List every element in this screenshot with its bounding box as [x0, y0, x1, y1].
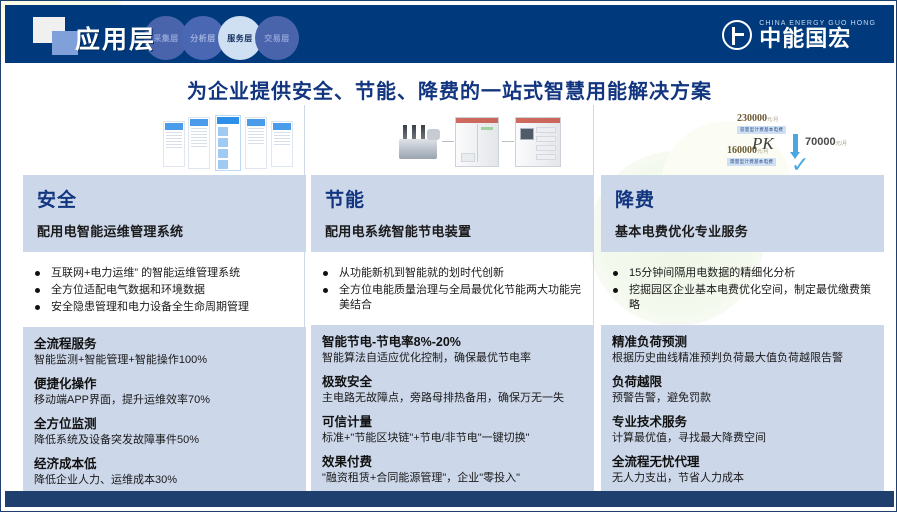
pk-before-number: 230000 [737, 113, 767, 124]
phone-mockup [188, 117, 210, 169]
detail-panel: 精准负荷预测 根据历史曲线精准预判负荷最大值负荷越限告警 负荷越限 预警告警，避… [601, 325, 884, 495]
column-security: 安全 配用电智能运维管理系统 互联网+电力运维” 的智能运维管理系统 全方位适配… [23, 101, 306, 497]
detail-item: 极致安全 主电路无故障点，旁路母排热备用，确保万无一失 [322, 374, 583, 405]
detail-item: 专业技术服务 计算最优值，寻找最大降费空间 [612, 414, 873, 445]
list-item: 互联网+电力运维” 的智能运维管理系统 [29, 266, 302, 281]
list-item: 全方位电能质量治理与全局最优化节能两大功能完美结合 [317, 283, 590, 313]
detail-title: 专业技术服务 [612, 414, 873, 430]
detail-desc: 根据历史曲线精准预判负荷最大值负荷越限告警 [612, 351, 873, 365]
layer-circle-label: 分析层 [190, 33, 216, 44]
detail-item: 全流程无忧代理 无人力支出，节省人力成本 [612, 454, 873, 485]
brand-chinese-name: 中能国宏 [759, 28, 876, 50]
bullet-list: 15分钟间隔用电数据的精细化分析 挖掘园区企业基本电费优化空间，制定最优缴费策略 [601, 252, 884, 325]
pk-after-unit: 元/月 [757, 150, 768, 155]
pk-before-value: 230000元/月 [737, 113, 778, 124]
bullet-list: 互联网+电力运维” 的智能运维管理系统 全方位适配电气数据和环境数据 安全隐患管… [23, 252, 306, 327]
column-header-card: 节能 配用电系统智能节电装置 [311, 175, 594, 252]
column-heading: 安全 [37, 185, 292, 212]
detail-desc: 智能算法自适应优化控制，确保最优节电率 [322, 351, 583, 365]
app-layer-title: 应用层 [75, 20, 156, 56]
column-heading: 节能 [325, 185, 580, 212]
layer-circles: 采集层 分析层 服务层 交易层 [144, 16, 304, 60]
column-heading: 降费 [615, 185, 870, 212]
down-arrow-icon [793, 134, 798, 152]
pk-after-tag: 需量型计费基本电费 [727, 158, 776, 166]
column-subheading: 基本电费优化专业服务 [615, 221, 870, 240]
slide-canvas: 采集层 分析层 服务层 交易层 应用层 CHINA ENERGY GUO HON… [0, 0, 897, 512]
layer-circle-label: 交易层 [264, 33, 290, 44]
detail-desc: "融资租赁+合同能源管理"，企业"零投入" [322, 471, 583, 485]
detail-title: 可信计量 [322, 414, 583, 430]
detail-item: 智能节电-节电率8%-20% 智能算法自适应优化控制，确保最优节电率 [322, 334, 583, 365]
mobile-app-screens-icon [23, 113, 306, 175]
phone-mockup [271, 121, 293, 167]
detail-item: 经济成本低 降低企业人力、运维成本30% [34, 456, 295, 487]
detail-item: 全方位监测 降低系统及设备突发故障事件50% [34, 416, 295, 447]
bullet-list: 从功能新机到智能就的划时代创新 全方位电能质量治理与全局最优化节能两大功能完美结… [311, 252, 594, 325]
detail-title: 效果付费 [322, 454, 583, 470]
detail-title: 全流程无忧代理 [612, 454, 873, 470]
control-cabinet-icon [455, 117, 499, 167]
layer-circle-label: 采集层 [153, 33, 179, 44]
detail-title: 智能节电-节电率8%-20% [322, 334, 583, 350]
pk-before-tag: 容量型计费基本电费 [737, 126, 786, 134]
list-item: 15分钟间隔用电数据的精细化分析 [607, 266, 880, 281]
list-item: 安全隐患管理和电力设备全生命周期管理 [29, 300, 302, 315]
pk-cost-comparison-icon: 230000元/月 容量型计费基本电费 PK 160000元/月 需量型计费基本… [601, 113, 884, 175]
phone-mockup-active [215, 115, 241, 171]
detail-title: 负荷越限 [612, 374, 873, 390]
pk-savings-value: 70000元/月 [805, 136, 847, 148]
detail-desc: 主电路无故障点，旁路母排热备用，确保万无一失 [322, 391, 583, 405]
detail-title: 全方位监测 [34, 416, 295, 432]
detail-desc: 降低系统及设备突发故障事件50% [34, 433, 295, 447]
detail-panel: 全流程服务 智能监测+智能管理+智能操作100% 便捷化操作 移动端APP界面，… [23, 327, 306, 497]
detail-title: 极致安全 [322, 374, 583, 390]
detail-desc: 移动端APP界面，提升运维效率70% [34, 393, 295, 407]
detail-item: 效果付费 "融资租赁+合同能源管理"，企业"零投入" [322, 454, 583, 485]
brand-logo: CHINA ENERGY GUO HONG 中能国宏 [722, 17, 876, 53]
detail-desc: 降低企业人力、运维成本30% [34, 473, 295, 487]
detail-desc: 标准+"节能区块链"+节电/非节电"一键切换" [322, 431, 583, 445]
layer-circle-trade[interactable]: 交易层 [255, 16, 299, 60]
detail-desc: 智能监测+智能管理+智能操作100% [34, 353, 295, 367]
detail-title: 经济成本低 [34, 456, 295, 472]
pk-before-unit: 元/月 [767, 118, 778, 123]
detail-title: 便捷化操作 [34, 376, 295, 392]
page-title: 为企业提供安全、节能、降费的一站式智慧用能解决方案 [1, 75, 897, 104]
column-header-card: 安全 配用电智能运维管理系统 [23, 175, 306, 252]
column-subheading: 配用电智能运维管理系统 [37, 221, 292, 240]
detail-item: 可信计量 标准+"节能区块链"+节电/非节电"一键切换" [322, 414, 583, 445]
switchgear-cabinet-icon [515, 117, 561, 167]
column-fee-reduction: 230000元/月 容量型计费基本电费 PK 160000元/月 需量型计费基本… [601, 101, 884, 495]
pk-after-number: 160000 [727, 145, 757, 156]
detail-desc: 无人力支出，节省人力成本 [612, 471, 873, 485]
list-item: 挖掘园区企业基本电费优化空间，制定最优缴费策略 [607, 283, 880, 313]
phone-mockup [163, 121, 185, 167]
list-item: 从功能新机到智能就的划时代创新 [317, 266, 590, 281]
transformer-and-switchgear-icon [311, 113, 594, 175]
detail-item: 便捷化操作 移动端APP界面，提升运维效率70% [34, 376, 295, 407]
pk-savings-unit: 元/月 [836, 141, 847, 147]
detail-title: 全流程服务 [34, 336, 295, 352]
column-subheading: 配用电系统智能节电装置 [325, 221, 580, 240]
detail-item: 精准负荷预测 根据历史曲线精准预判负荷最大值负荷越限告警 [612, 334, 873, 365]
list-item: 全方位适配电气数据和环境数据 [29, 283, 302, 298]
detail-desc: 预警告警，避免罚款 [612, 391, 873, 405]
detail-title: 精准负荷预测 [612, 334, 873, 350]
detail-item: 负荷越限 预警告警，避免罚款 [612, 374, 873, 405]
pk-savings-number: 70000 [805, 136, 836, 148]
phone-mockup [245, 117, 267, 169]
page-header: 采集层 分析层 服务层 交易层 应用层 CHINA ENERGY GUO HON… [5, 5, 894, 63]
column-energy-saving: 节能 配用电系统智能节电装置 从功能新机到智能就的划时代创新 全方位电能质量治理… [311, 101, 594, 495]
transformer-icon [395, 125, 441, 159]
detail-panel: 智能节电-节电率8%-20% 智能算法自适应优化控制，确保最优节电率 极致安全 … [311, 325, 594, 495]
pk-after-value: 160000元/月 [727, 145, 768, 156]
ring-logo-icon [722, 20, 752, 50]
detail-desc: 计算最优值，寻找最大降费空间 [612, 431, 873, 445]
layer-circle-label: 服务层 [227, 33, 253, 44]
column-header-card: 降费 基本电费优化专业服务 [601, 175, 884, 252]
page-footer-bar [5, 491, 894, 507]
detail-item: 全流程服务 智能监测+智能管理+智能操作100% [34, 336, 295, 367]
